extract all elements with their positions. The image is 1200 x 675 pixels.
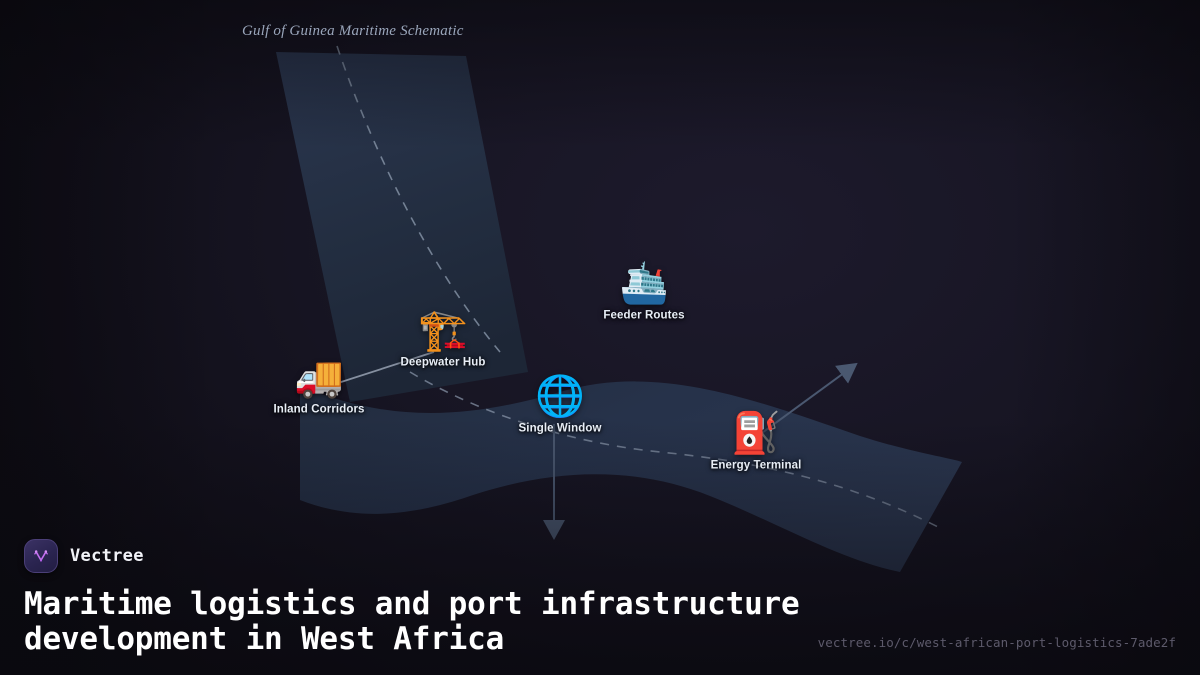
construction-crane-icon: 🏗️ xyxy=(418,308,468,354)
map-node-label: Deepwater Hub xyxy=(400,357,485,369)
map-node-energy-terminal[interactable]: ⛽ Energy Terminal xyxy=(711,411,802,472)
map-node-deepwater-hub[interactable]: 🏗️ Deepwater Hub xyxy=(400,308,485,369)
schematic-title: Gulf of Guinea Maritime Schematic xyxy=(242,23,464,40)
map-node-single-window[interactable]: 🌐 Single Window xyxy=(519,374,602,435)
map-node-label: Inland Corridors xyxy=(273,404,364,416)
footer: Vectree Maritime logistics and port infr… xyxy=(0,539,1200,675)
map-node-label: Feeder Routes xyxy=(603,310,684,322)
passenger-ship-icon: 🛳️ xyxy=(619,261,669,307)
map-node-inland-corridors[interactable]: 🚚 Inland Corridors xyxy=(273,355,364,416)
delivery-truck-icon: 🚚 xyxy=(294,355,344,401)
schematic-canvas: Gulf of Guinea Maritime Schematic 🚚 Inla… xyxy=(0,0,1200,675)
map-node-label: Energy Terminal xyxy=(711,460,802,472)
map-node-feeder-routes[interactable]: 🛳️ Feeder Routes xyxy=(603,261,684,322)
brand-name: Vectree xyxy=(70,546,144,566)
source-url: vectree.io/c/west-african-port-logistics… xyxy=(818,635,1176,650)
brand-row[interactable]: Vectree xyxy=(24,539,1176,573)
globe-meridians-icon: 🌐 xyxy=(535,374,585,420)
map-node-label: Single Window xyxy=(519,423,602,435)
vector-tree-icon xyxy=(24,539,58,573)
page-title: Maritime logistics and port infrastructu… xyxy=(24,587,814,657)
fuel-pump-icon: ⛽ xyxy=(731,411,781,457)
